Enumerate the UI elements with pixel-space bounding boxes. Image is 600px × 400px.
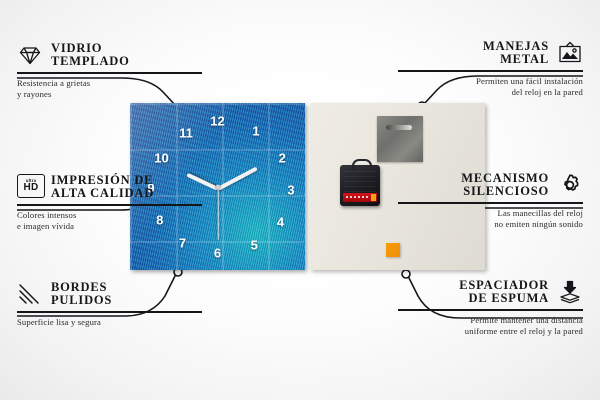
gear-icon: [557, 172, 583, 198]
hanger-keyhole-slot: [386, 125, 412, 130]
divider-rule: [398, 202, 583, 204]
divider-rule: [398, 70, 583, 72]
feature-title-line2: DE ESPUMA: [459, 292, 549, 305]
diagonal-lines-icon: [17, 281, 43, 307]
battery-label: [346, 196, 368, 198]
battery: [343, 193, 377, 202]
clock-minute-hand: [217, 166, 258, 190]
clock-mechanism-box: [340, 165, 380, 206]
ultra-hd-icon: ultra HD: [17, 174, 43, 200]
clock-numeral-5: 5: [251, 238, 258, 251]
feature-bordes-pulidos: BORDES PULIDOS Superficie lisa y segura: [17, 281, 202, 328]
feature-desc-line2: y rayones: [17, 89, 202, 100]
framed-picture-hook-icon: [557, 40, 583, 66]
metal-hanger-plate: [377, 116, 423, 162]
feature-desc-line1: Las manecillas del reloj: [398, 208, 583, 219]
divider-rule: [17, 311, 202, 313]
feature-title-line2: SILENCIOSO: [461, 185, 549, 198]
clock-numeral-12: 12: [210, 115, 224, 128]
battery-terminal: [371, 194, 376, 201]
arrow-down-layers-icon: [557, 279, 583, 305]
feature-title-line2: ALTA CALIDAD: [51, 187, 154, 200]
feature-impresion-alta-calidad: ultra HD IMPRESIÓN DE ALTA CALIDAD Color…: [17, 174, 202, 232]
clock-numeral-6: 6: [214, 247, 221, 260]
clock-numeral-11: 11: [179, 127, 193, 140]
clock-second-hand: [217, 187, 218, 239]
feature-desc-line1: Resistencia a grietas: [17, 78, 202, 89]
feature-desc-line1: Permiten una fácil instalación: [398, 76, 583, 87]
feature-vidrio-templado: VIDRIO TEMPLADO Resistencia a grietas y …: [17, 42, 202, 100]
feature-desc-line2: del reloj en la pared: [398, 87, 583, 98]
divider-rule: [17, 72, 202, 74]
feature-desc-line2: no emiten ningún sonido: [398, 219, 583, 230]
feature-mecanismo-silencioso: MECANISMO SILENCIOSO Las manecillas del …: [398, 172, 583, 230]
feature-title-line2: TEMPLADO: [51, 55, 130, 68]
feature-manejas-metal: MANEJAS METAL Permiten una fácil instala…: [398, 40, 583, 98]
ultra-hd-icon-main-text: HD: [23, 183, 38, 193]
clock-numeral-7: 7: [179, 237, 186, 250]
clock-numeral-3: 3: [287, 183, 294, 196]
mechanism-surface-detail: [344, 171, 376, 193]
feature-desc-line2: uniforme entre el reloj y la pared: [398, 326, 583, 337]
feature-title-line2: METAL: [483, 53, 549, 66]
divider-rule: [398, 309, 583, 311]
mechanism-hanging-loop: [352, 159, 372, 170]
feature-desc-line2: e imagen vívida: [17, 221, 202, 232]
feature-desc-line1: Colores intensos: [17, 210, 202, 221]
endpoint-dot-espaciador: [402, 270, 410, 278]
feature-desc-line1: Superficie lisa y segura: [17, 317, 202, 328]
feature-espaciador-espuma: ESPACIADOR DE ESPUMA Permite mantener un…: [398, 279, 583, 337]
clock-numeral-10: 10: [154, 152, 168, 165]
diamond-icon: [17, 42, 43, 68]
clock-numeral-2: 2: [279, 152, 286, 165]
clock-center-hub: [215, 184, 220, 189]
foam-spacer-pad: [386, 243, 400, 257]
clock-numeral-1: 1: [252, 125, 259, 138]
clock-numeral-4: 4: [277, 215, 284, 228]
feature-desc-line1: Permite mantener una distancia: [398, 315, 583, 326]
infographic-canvas: 12 1 2 3 4 5 6 7 8 9 10 11: [0, 0, 600, 400]
divider-rule: [17, 204, 202, 206]
feature-title-line2: PULIDOS: [51, 294, 112, 307]
